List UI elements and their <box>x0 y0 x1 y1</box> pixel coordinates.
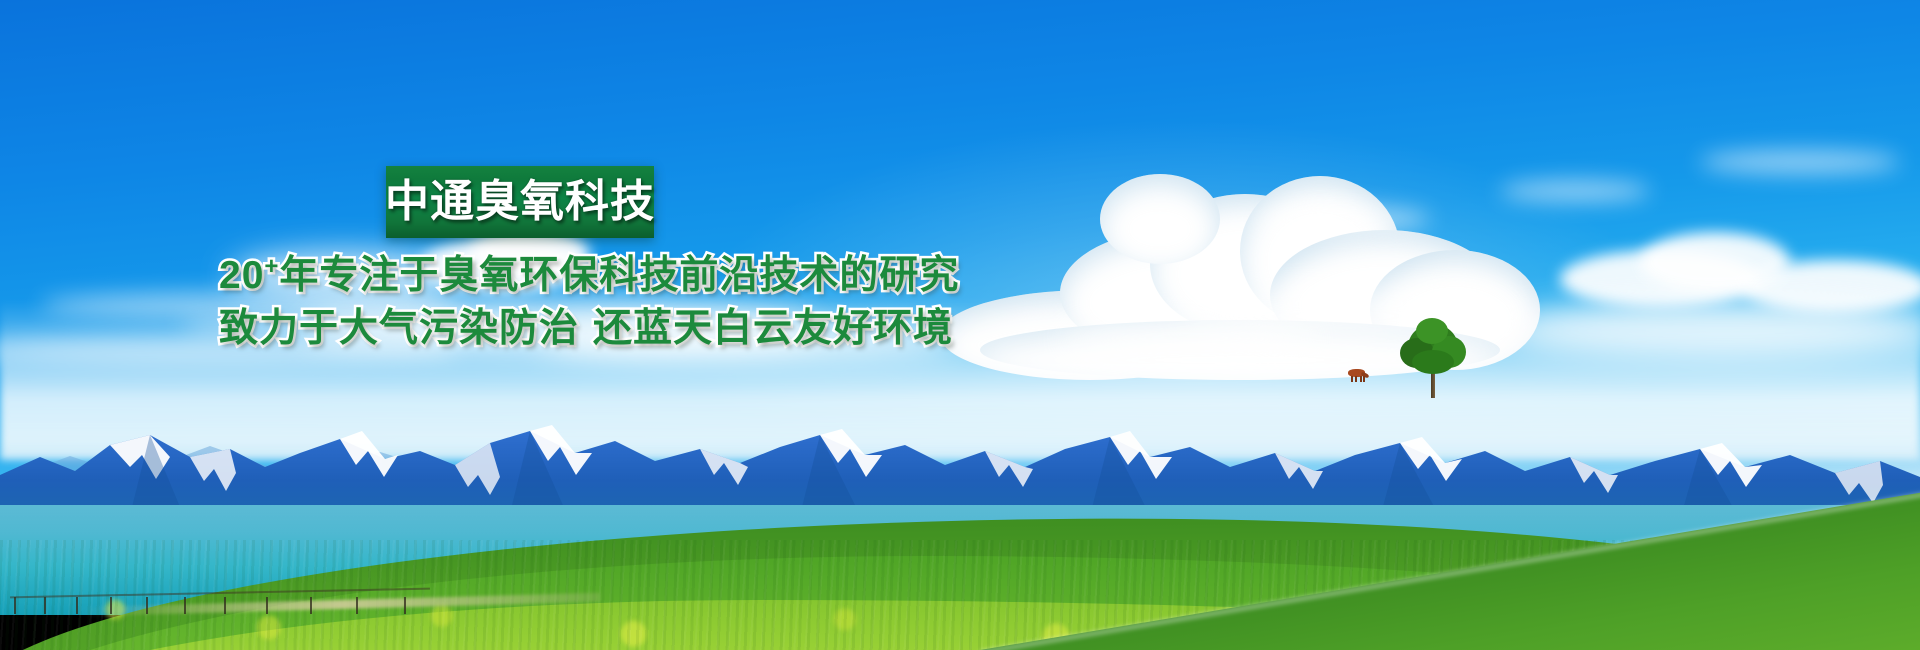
tagline-line-1-rest: 年专注于臭氧环保科技前沿技术的研究 <box>279 254 959 297</box>
brand-title-badge: 中通臭氧科技 <box>386 166 654 238</box>
brand-title: 中通臭氧科技 <box>385 180 655 224</box>
tagline-plus-superscript: + <box>264 253 279 280</box>
tagline-line-2-part-1: 致力于大气污染防治 <box>219 307 579 350</box>
tagline-line-2: 致力于大气污染防治还蓝天白云友好环境 <box>219 309 953 348</box>
tagline-years-number: 20 <box>219 254 264 297</box>
banner-text-overlay: 中通臭氧科技 20+年专注于臭氧环保科技前沿技术的研究 致力于大气污染防治还蓝天… <box>0 0 1920 650</box>
tagline-line-2-part-2: 还蓝天白云友好环境 <box>579 307 953 350</box>
tagline-line-1: 20+年专注于臭氧环保科技前沿技术的研究 <box>219 255 959 295</box>
hero-banner: 中通臭氧科技 20+年专注于臭氧环保科技前沿技术的研究 致力于大气污染防治还蓝天… <box>0 0 1920 650</box>
